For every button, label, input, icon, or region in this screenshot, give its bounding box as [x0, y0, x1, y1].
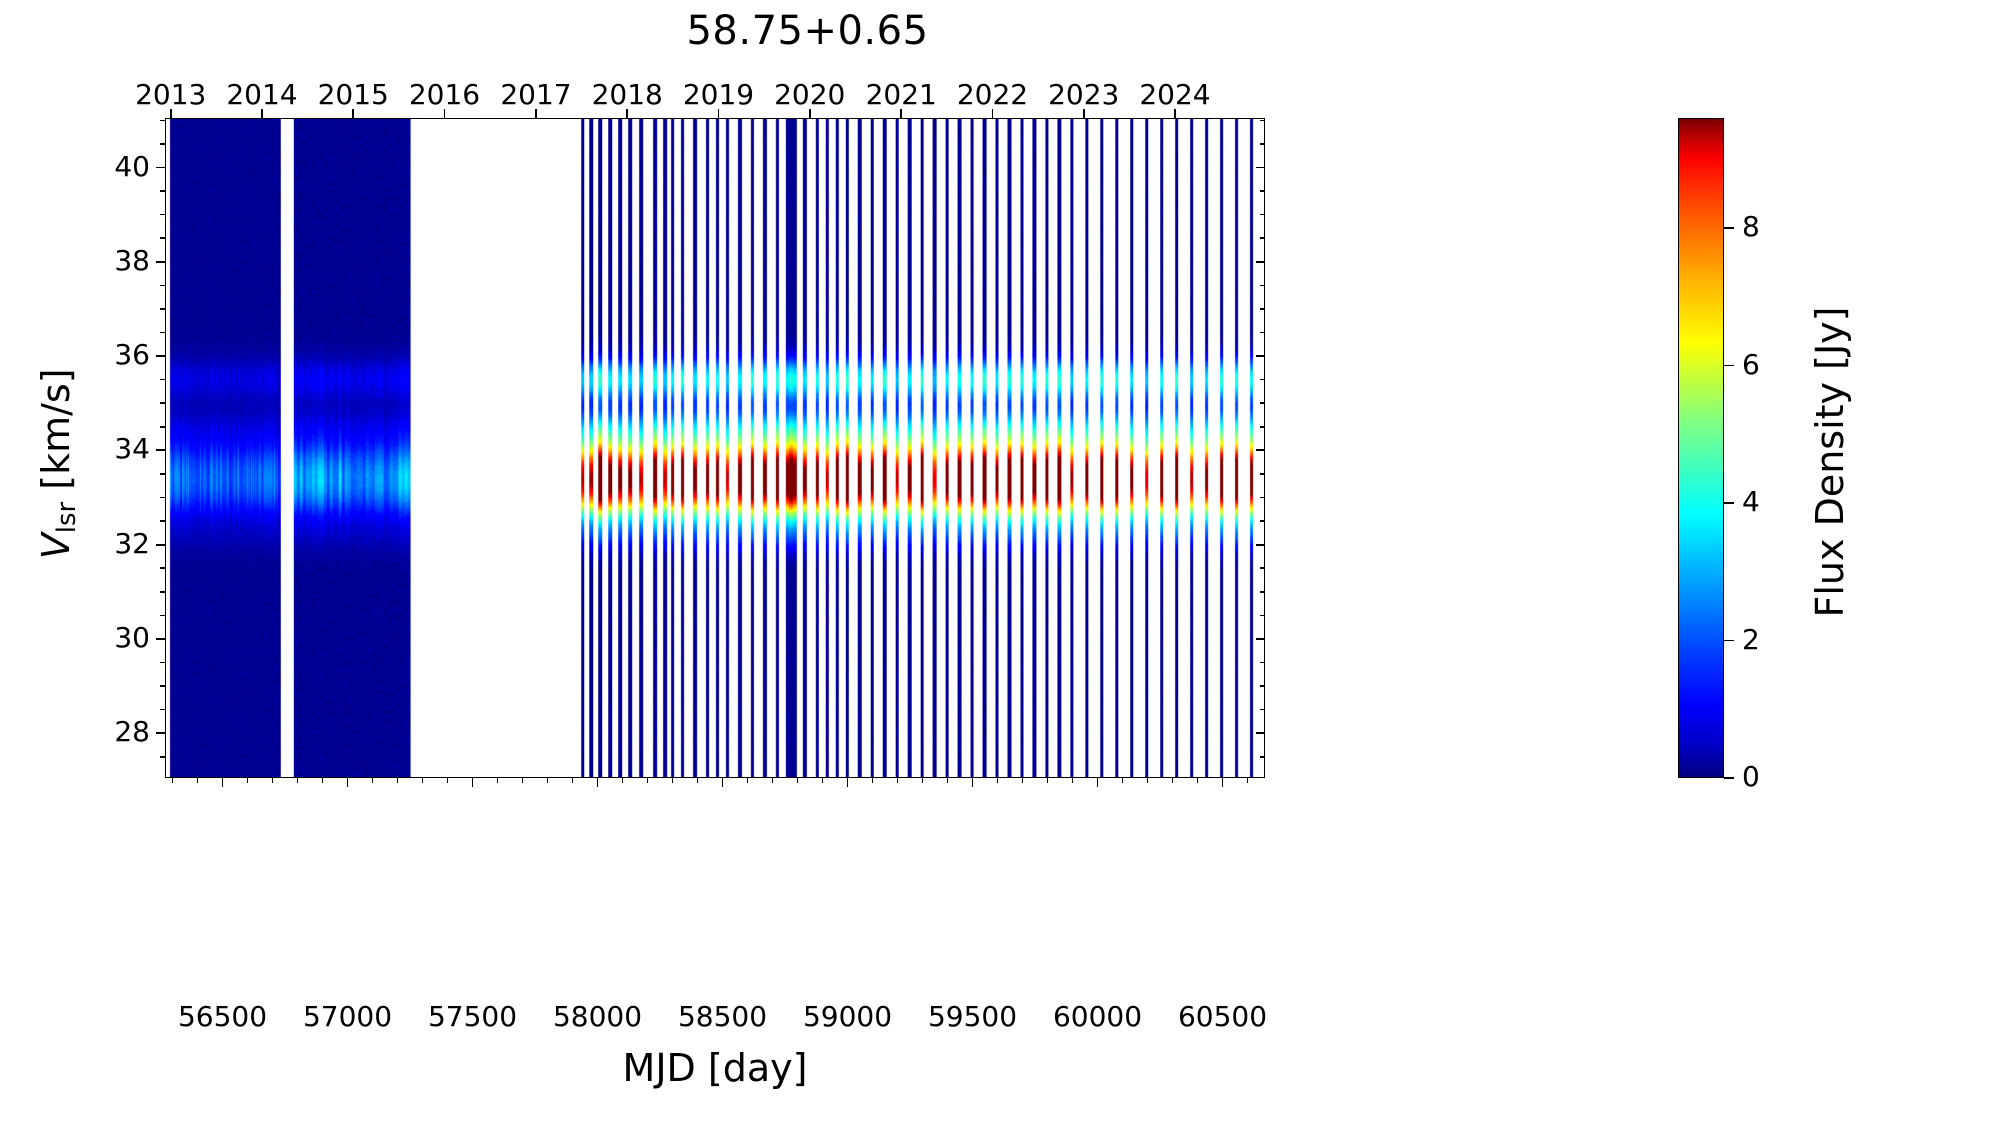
y-tick-major-right	[1256, 638, 1265, 640]
year-label-2024: 2024	[1095, 78, 1255, 111]
x-tick-minor	[772, 778, 774, 783]
y-tick-major	[156, 544, 165, 546]
x-tick-major	[597, 778, 599, 787]
y-tick-minor-right	[1260, 332, 1265, 334]
colorbar-tick-label-0: 0	[1742, 760, 1760, 793]
y-axis-symbol: V	[34, 533, 78, 559]
y-axis-subscript: lsr	[52, 502, 82, 533]
y-tick-major-right	[1256, 167, 1265, 169]
y-tick-minor	[160, 379, 165, 381]
x-tick-minor	[1147, 778, 1149, 783]
x-tick-minor	[997, 778, 999, 783]
x-tick-minor	[172, 778, 174, 783]
colorbar-tick	[1724, 502, 1734, 504]
y-tick-minor-right	[1260, 709, 1265, 711]
y-tick-minor-right	[1260, 520, 1265, 522]
y-tick-major-right	[1256, 261, 1265, 263]
y-tick-minor-right	[1260, 402, 1265, 404]
y-tick-minor	[160, 143, 165, 145]
x-tick-major	[972, 778, 974, 787]
y-tick-minor-right	[1260, 685, 1265, 687]
heatmap-axes	[165, 118, 1265, 778]
colorbar-tick	[1724, 640, 1734, 642]
x-tick-minor	[922, 778, 924, 783]
y-tick-minor-right	[1260, 285, 1265, 287]
y-tick-minor-right	[1260, 237, 1265, 239]
x-tick-minor	[397, 778, 399, 783]
y-tick-minor	[160, 662, 165, 664]
x-tick-minor	[572, 778, 574, 783]
y-tick-minor-right	[1260, 426, 1265, 428]
x-tick-minor	[747, 778, 749, 783]
y-tick-minor	[160, 709, 165, 711]
x-axis-title: MJD [day]	[165, 1046, 1265, 1090]
colorbar-tick	[1724, 227, 1734, 229]
x-tick-major	[222, 778, 224, 787]
y-tick-minor	[160, 591, 165, 593]
y-tick-major-right	[1256, 449, 1265, 451]
y-tick-label-40: 40	[90, 150, 150, 183]
y-tick-major	[156, 261, 165, 263]
y-tick-minor-right	[1260, 615, 1265, 617]
x-tick-major	[847, 778, 849, 787]
y-tick-minor	[160, 332, 165, 334]
x-tick-minor	[1022, 778, 1024, 783]
x-tick-minor	[522, 778, 524, 783]
x-tick-minor	[672, 778, 674, 783]
y-tick-minor-right	[1260, 497, 1265, 499]
y-tick-minor-right	[1260, 379, 1265, 381]
y-tick-minor	[160, 285, 165, 287]
y-tick-minor	[160, 567, 165, 569]
x-tick-minor	[547, 778, 549, 783]
y-tick-minor-right	[1260, 756, 1265, 758]
x-tick-minor	[1197, 778, 1199, 783]
x-tick-minor	[872, 778, 874, 783]
colorbar	[1678, 118, 1724, 778]
y-tick-major	[156, 355, 165, 357]
x-tick-minor	[447, 778, 449, 783]
colorbar-tick-label-8: 8	[1742, 210, 1760, 243]
y-tick-minor-right	[1260, 662, 1265, 664]
x-tick-major	[347, 778, 349, 787]
y-tick-minor-right	[1260, 567, 1265, 569]
colorbar-tick	[1724, 365, 1734, 367]
y-tick-minor	[160, 237, 165, 239]
colorbar-tick-label-6: 6	[1742, 348, 1760, 381]
x-tick-minor	[797, 778, 799, 783]
x-tick-minor	[422, 778, 424, 783]
y-tick-minor	[160, 685, 165, 687]
x-tick-minor	[822, 778, 824, 783]
y-tick-label-36: 36	[90, 338, 150, 371]
x-tick-minor	[697, 778, 699, 783]
x-tick-major	[472, 778, 474, 787]
y-tick-major	[156, 167, 165, 169]
y-tick-minor-right	[1260, 190, 1265, 192]
x-tick-minor	[897, 778, 899, 783]
y-tick-minor-right	[1260, 308, 1265, 310]
x-tick-minor	[947, 778, 949, 783]
x-tick-minor	[372, 778, 374, 783]
y-tick-minor	[160, 426, 165, 428]
x-tick-major	[1097, 778, 1099, 787]
figure-canvas: 58.75+0.65 28303234363840565005700057500…	[0, 0, 2000, 1125]
colorbar-tick-label-2: 2	[1742, 623, 1760, 656]
x-tick-minor	[322, 778, 324, 783]
y-tick-minor-right	[1260, 473, 1265, 475]
y-tick-minor-right	[1260, 214, 1265, 216]
colorbar-tick-label-4: 4	[1742, 485, 1760, 518]
y-tick-minor	[160, 308, 165, 310]
x-tick-minor	[1072, 778, 1074, 783]
page-title: 58.75+0.65	[0, 8, 1615, 54]
y-tick-label-34: 34	[90, 432, 150, 465]
y-tick-minor	[160, 497, 165, 499]
x-tick-minor	[1172, 778, 1174, 783]
y-tick-major-right	[1256, 355, 1265, 357]
y-tick-label-38: 38	[90, 244, 150, 277]
colorbar-tick	[1724, 777, 1734, 779]
y-axis-unit: [km/s]	[34, 368, 78, 489]
y-axis-title: Vlsr [km/s]	[34, 134, 82, 794]
x-tick-minor	[647, 778, 649, 783]
x-tick-minor	[197, 778, 199, 783]
y-tick-minor	[160, 520, 165, 522]
y-tick-minor-right	[1260, 143, 1265, 145]
colorbar-title: Flux Density [Jy]	[1808, 132, 1852, 792]
x-tick-minor	[497, 778, 499, 783]
y-tick-minor	[160, 615, 165, 617]
y-tick-label-32: 32	[90, 527, 150, 560]
x-tick-major	[1222, 778, 1224, 787]
x-tick-minor	[297, 778, 299, 783]
y-tick-major	[156, 449, 165, 451]
y-tick-minor-right	[1260, 120, 1265, 122]
y-tick-minor	[160, 120, 165, 122]
y-tick-minor	[160, 402, 165, 404]
x-tick-label-60500: 60500	[1143, 1000, 1303, 1033]
y-tick-label-28: 28	[90, 715, 150, 748]
x-tick-minor	[247, 778, 249, 783]
dynamic-spectrum-image	[166, 119, 1264, 777]
y-tick-major	[156, 638, 165, 640]
y-tick-minor	[160, 473, 165, 475]
x-tick-minor	[1122, 778, 1124, 783]
y-tick-major-right	[1256, 732, 1265, 734]
x-tick-minor	[1247, 778, 1249, 783]
y-tick-label-30: 30	[90, 621, 150, 654]
y-tick-minor	[160, 190, 165, 192]
y-tick-major-right	[1256, 544, 1265, 546]
x-tick-minor	[622, 778, 624, 783]
x-tick-minor	[1047, 778, 1049, 783]
x-tick-major	[722, 778, 724, 787]
x-tick-minor	[272, 778, 274, 783]
y-tick-minor-right	[1260, 591, 1265, 593]
y-tick-major	[156, 732, 165, 734]
y-tick-minor	[160, 214, 165, 216]
y-tick-minor	[160, 756, 165, 758]
